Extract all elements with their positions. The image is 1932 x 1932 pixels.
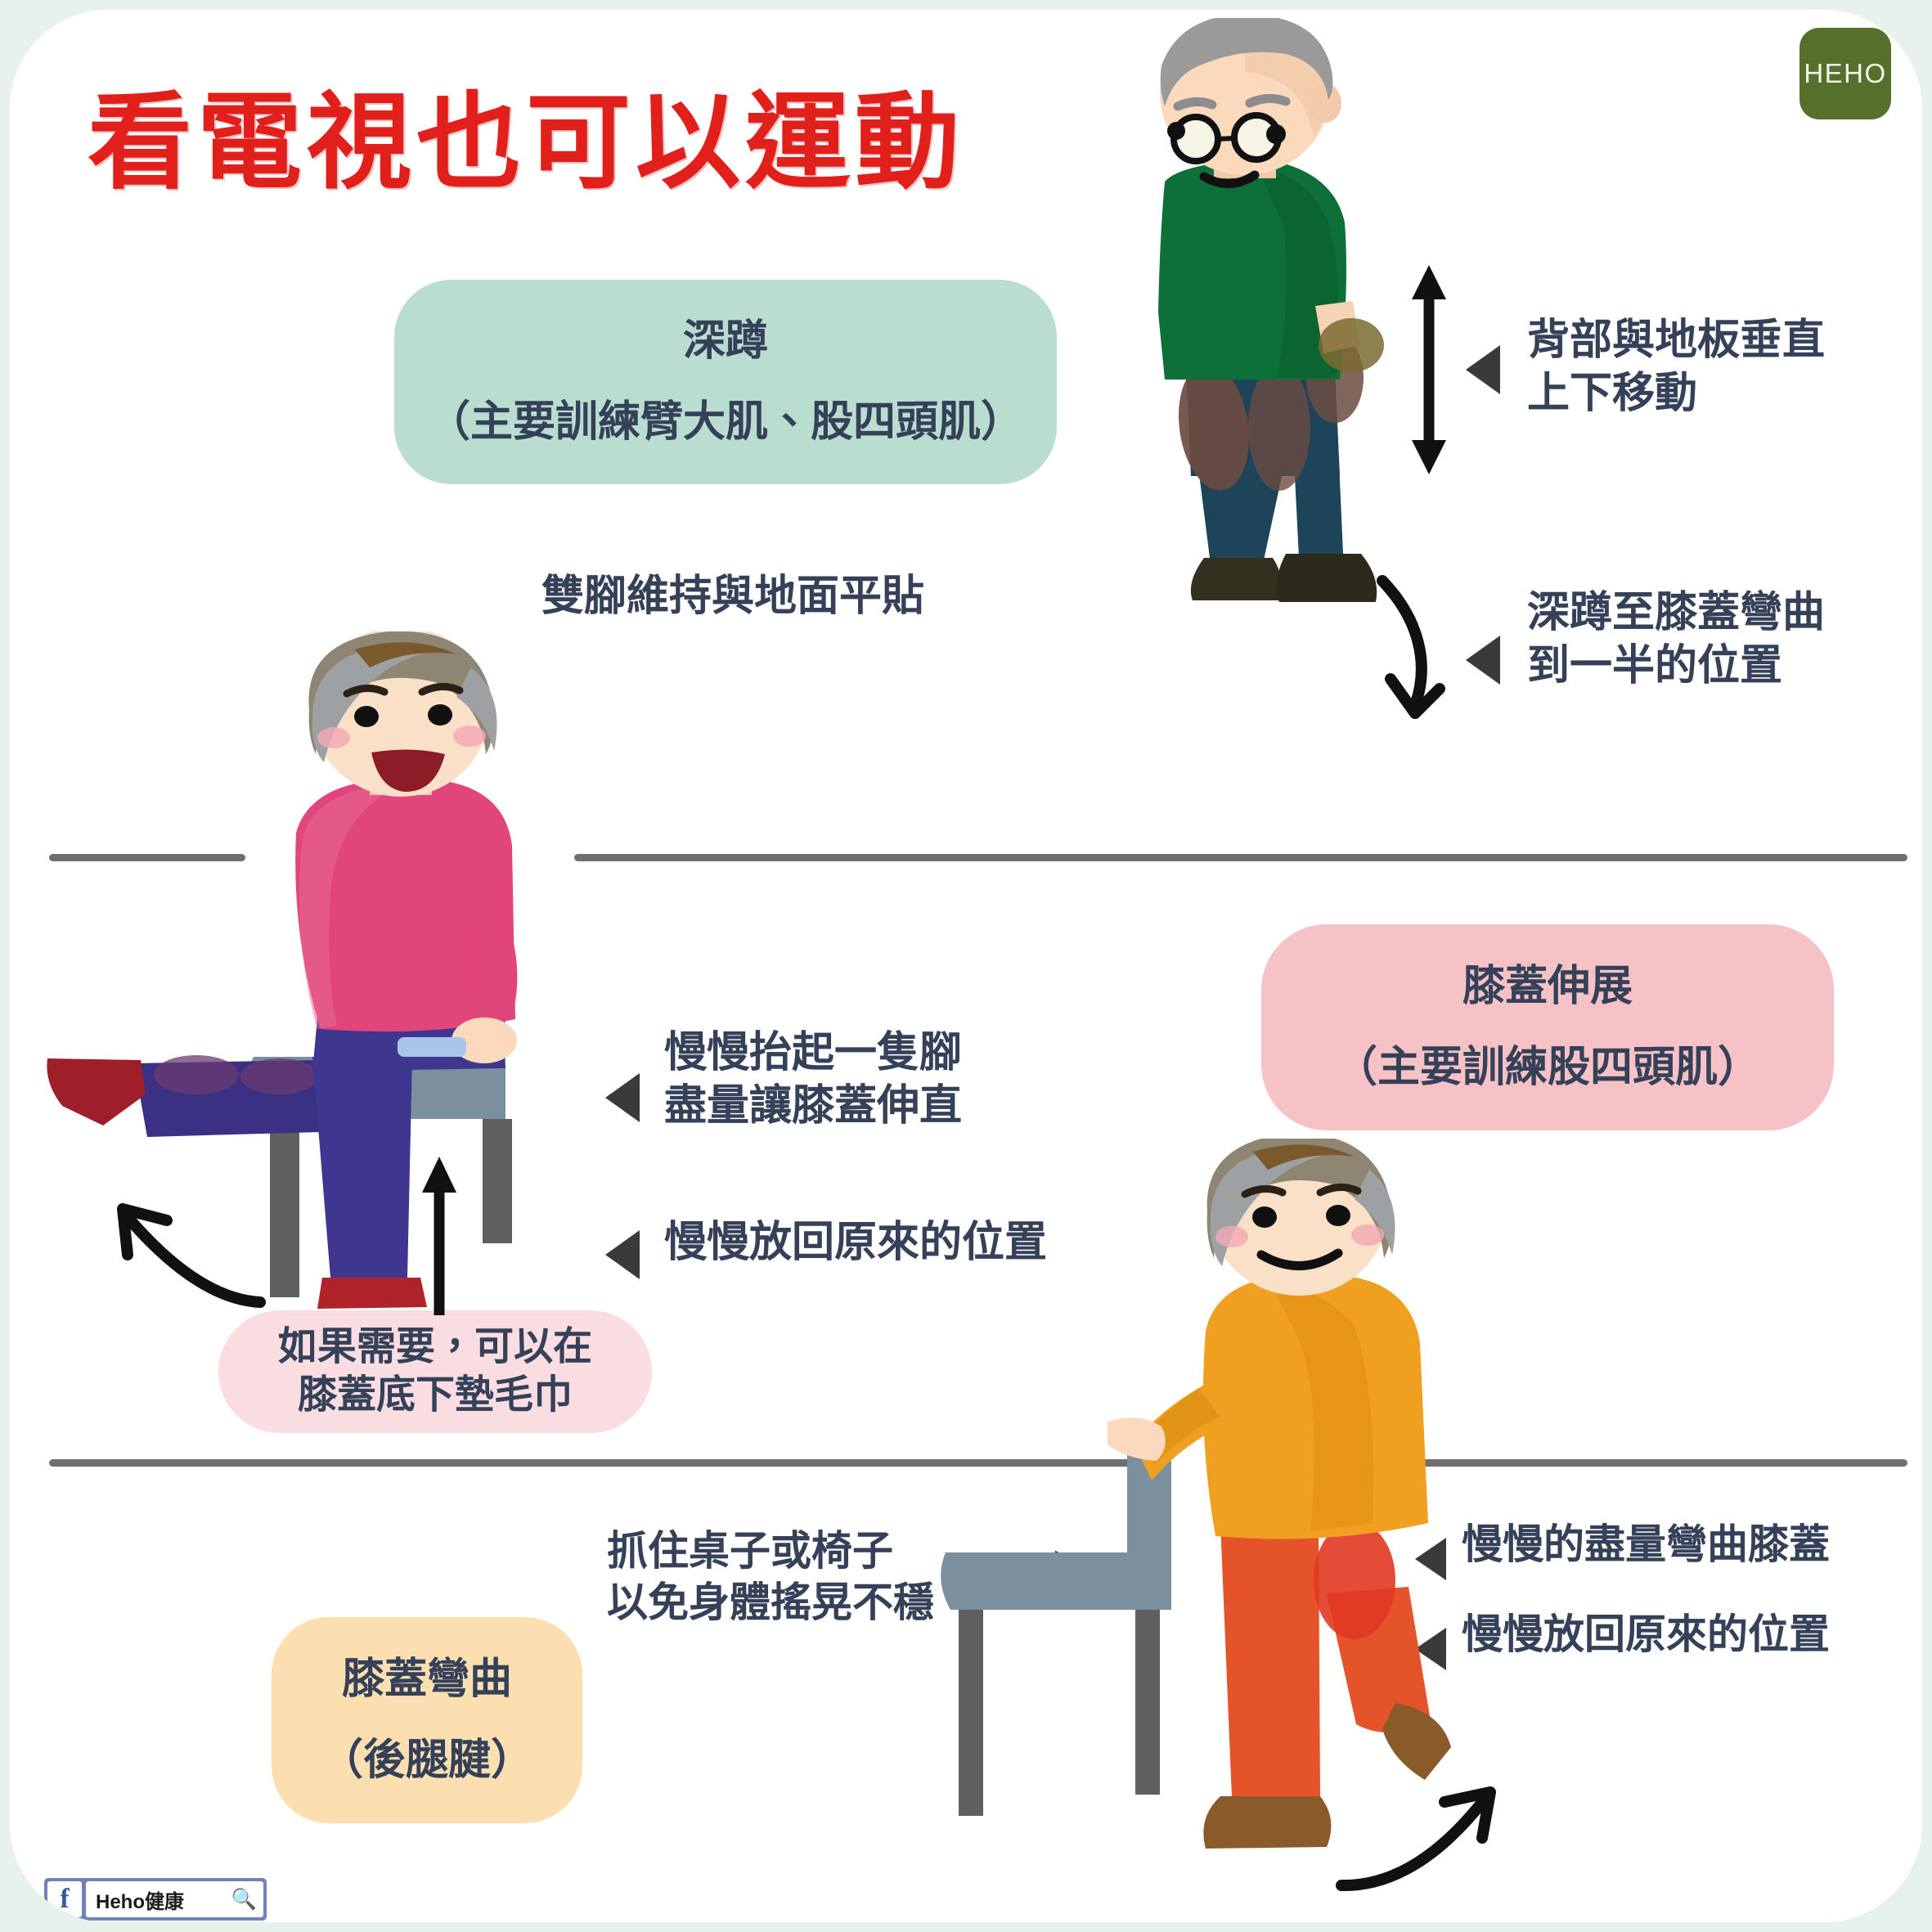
facebook-search-text: Heho健康 [96, 1885, 184, 1914]
extension-pill-line2: （主要訓練股四頭肌） [1335, 1041, 1760, 1094]
knee-extension-title-pill: 膝蓋伸展 （主要訓練股四頭肌） [1261, 924, 1834, 1130]
divider-1-right [574, 854, 1907, 861]
page-title: 看電視也可以運動 [88, 57, 964, 209]
facebook-search-field[interactable]: Heho健康 🔍 [86, 1881, 263, 1917]
squat-pill-line1: 深蹲 [683, 315, 768, 368]
lower-note-marker-1 [605, 1230, 640, 1279]
infographic-canvas: 看電視也可以運動 HEHO 深蹲 （主要訓練臂大肌、股四頭肌） 雙腳維持與地面平… [0, 0, 1932, 1932]
halfway-note-marker [1466, 636, 1500, 685]
flexion-grab-note: 抓住桌子或椅子 以免身體搖晃不穩 [607, 1525, 934, 1628]
flexion-bend-note: 慢慢的盡量彎曲膝蓋 [1462, 1519, 1830, 1570]
logo-text: HEHO [1804, 58, 1886, 89]
facebook-search-bar[interactable]: f Heho健康 🔍 [44, 1878, 267, 1921]
extension-pill-line1: 膝蓋伸展 [1462, 960, 1633, 1013]
facebook-icon[interactable]: f [47, 1881, 82, 1917]
towel-note-pill: 如果需要，可以在 膝蓋底下墊毛巾 [218, 1310, 652, 1433]
knee-flexion-title-pill: 膝蓋彎曲 （後腿腱） [272, 1617, 582, 1823]
squat-halfway-note: 深蹲至膝蓋彎曲 到一半的位置 [1527, 586, 1825, 693]
content-card: 看電視也可以運動 HEHO 深蹲 （主要訓練臂大肌、股四頭肌） 雙腳維持與地面平… [10, 10, 1922, 1922]
lift-note-marker [605, 1073, 640, 1122]
flexion-pill-line2: （後腿腱） [321, 1734, 533, 1787]
squat-pill-line2: （主要訓練臂大肌、股四頭肌） [428, 396, 1023, 449]
illustration-standing-man [1090, 18, 1433, 836]
squat-feet-caption: 雙腳維持與地面平貼 [541, 570, 924, 623]
extension-lift-note: 慢慢抬起一隻腳 盡量讓膝蓋伸直 [664, 1027, 962, 1133]
curved-up-right-arrow-icon [1335, 1772, 1515, 1895]
flexion-pill-line1: 膝蓋彎曲 [342, 1653, 512, 1706]
divider-2-right [1417, 1459, 1907, 1467]
heho-logo: HEHO [1799, 28, 1891, 119]
search-icon[interactable]: 🔍 [231, 1888, 257, 1912]
squat-title-pill: 深蹲 （主要訓練臂大肌、股四頭肌） [394, 280, 1057, 484]
flexion-lower-note: 慢慢放回原來的位置 [1462, 1609, 1830, 1660]
squat-back-note: 背部與地板垂直 上下移動 [1527, 314, 1825, 420]
up-arrow-icon [411, 1155, 468, 1319]
back-note-marker [1466, 345, 1500, 394]
curved-up-left-arrow-icon [100, 1179, 272, 1310]
